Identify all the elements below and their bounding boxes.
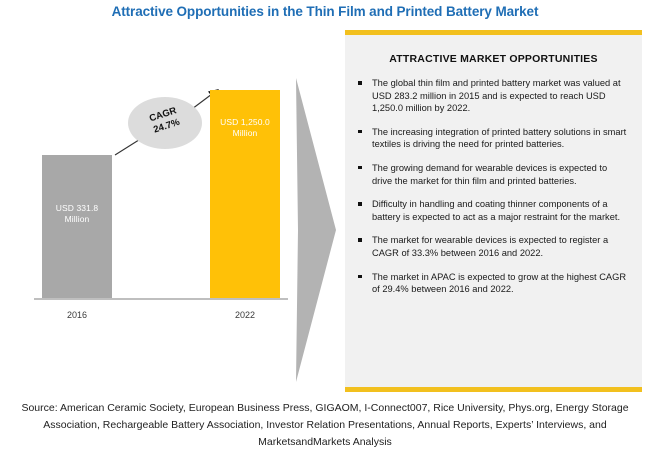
- list-item: The increasing integration of printed ba…: [355, 126, 628, 151]
- list-item: The market for wearable devices is expec…: [355, 234, 628, 259]
- bar-2016-value-line1: USD 331.8: [56, 203, 98, 213]
- list-item-text: The increasing integration of printed ba…: [372, 127, 626, 150]
- list-item: The market in APAC is expected to grow a…: [355, 271, 628, 296]
- bullet-square-icon: [358, 130, 362, 134]
- chart-axis-line: [34, 298, 288, 300]
- source-note: Source: American Ceramic Society, Europe…: [12, 400, 638, 451]
- list-item: Difficulty in handling and coating thinn…: [355, 198, 628, 223]
- cagr-bubble-text: CAGR 24.7%: [126, 98, 204, 144]
- bar-2016: USD 331.8 Million: [42, 155, 112, 298]
- bar-2022: USD 1,250.0 Million: [210, 90, 280, 298]
- bar-2016-label: USD 331.8 Million: [42, 203, 112, 225]
- bullet-square-icon: [358, 275, 362, 279]
- market-size-bar-chart: USD 331.8 Million USD 1,250.0 Million 20…: [20, 60, 320, 330]
- list-item-text: The market for wearable devices is expec…: [372, 235, 608, 258]
- bar-2022-value-line2: Million: [233, 128, 258, 138]
- bullet-square-icon: [358, 238, 362, 242]
- page-title: Attractive Opportunities in the Thin Fil…: [0, 4, 650, 19]
- axis-tick-2016: 2016: [42, 310, 112, 320]
- axis-tick-2022: 2022: [210, 310, 280, 320]
- opportunities-bullet-list: The global thin film and printed battery…: [345, 77, 642, 296]
- attractive-market-opportunities-panel: ATTRACTIVE MARKET OPPORTUNITIES The glob…: [345, 30, 642, 392]
- bullet-square-icon: [358, 166, 362, 170]
- bullet-square-icon: [358, 81, 362, 85]
- bar-2022-value-line1: USD 1,250.0: [220, 117, 270, 127]
- bullet-square-icon: [358, 202, 362, 206]
- bar-2022-label: USD 1,250.0 Million: [210, 117, 280, 139]
- list-item-text: The market in APAC is expected to grow a…: [372, 272, 626, 295]
- chevron-right-icon: [296, 60, 340, 400]
- list-item-text: The global thin film and printed battery…: [372, 78, 621, 113]
- bar-2016-value-line2: Million: [65, 214, 90, 224]
- panel-heading: ATTRACTIVE MARKET OPPORTUNITIES: [345, 53, 642, 65]
- list-item-text: Difficulty in handling and coating thinn…: [372, 199, 620, 222]
- list-item: The global thin film and printed battery…: [355, 77, 628, 115]
- cagr-bubble: CAGR 24.7%: [128, 97, 202, 149]
- list-item-text: The growing demand for wearable devices …: [372, 163, 607, 186]
- list-item: The growing demand for wearable devices …: [355, 162, 628, 187]
